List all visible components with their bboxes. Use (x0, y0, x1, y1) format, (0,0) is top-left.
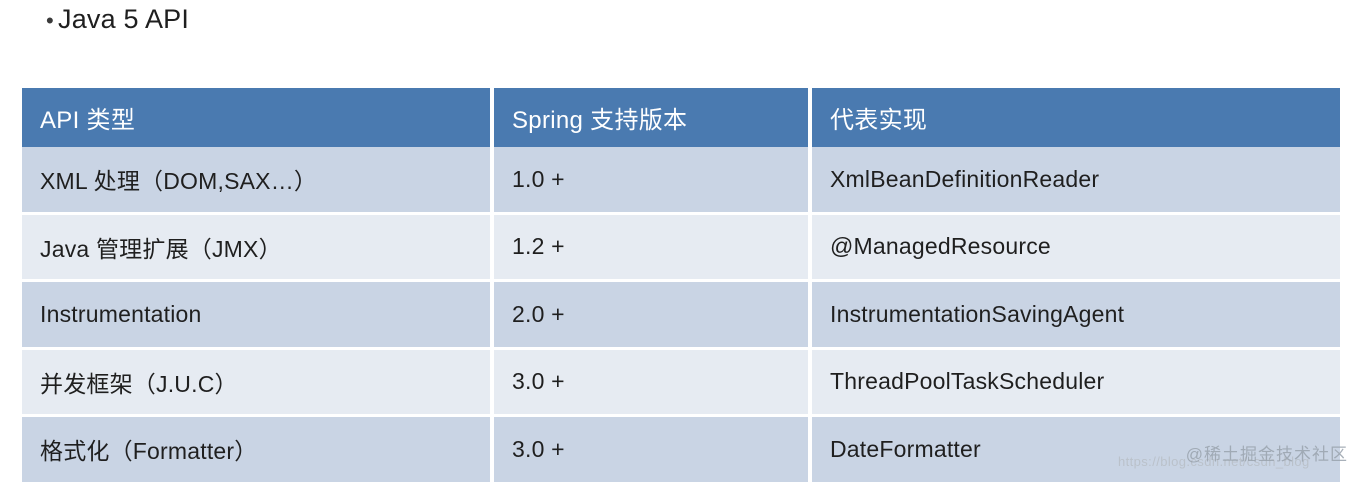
cell-api-type: Java 管理扩展（JMX） (22, 213, 492, 281)
column-header-spring-version: Spring 支持版本 (492, 88, 810, 147)
table-row: Instrumentation 2.0 + InstrumentationSav… (22, 281, 1340, 349)
api-table: API 类型 Spring 支持版本 代表实现 XML 处理（DOM,SAX…）… (22, 88, 1340, 482)
bullet-dot-icon: • (22, 4, 58, 38)
cell-implementation: InstrumentationSavingAgent (810, 281, 1340, 349)
table-body: XML 处理（DOM,SAX…） 1.0 + XmlBeanDefinition… (22, 147, 1340, 482)
page-title: Java 5 API (58, 2, 189, 36)
cell-spring-version: 3.0 + (492, 416, 810, 482)
cell-implementation: ThreadPoolTaskScheduler (810, 348, 1340, 416)
bullet-heading: • Java 5 API (22, 2, 189, 38)
cell-implementation: XmlBeanDefinitionReader (810, 147, 1340, 213)
cell-spring-version: 1.2 + (492, 213, 810, 281)
table-row: 并发框架（J.U.C） 3.0 + ThreadPoolTaskSchedule… (22, 348, 1340, 416)
table-header: API 类型 Spring 支持版本 代表实现 (22, 88, 1340, 147)
cell-spring-version: 1.0 + (492, 147, 810, 213)
table-header-row: API 类型 Spring 支持版本 代表实现 (22, 88, 1340, 147)
table-row: 格式化（Formatter） 3.0 + DateFormatter (22, 416, 1340, 482)
column-header-api-type: API 类型 (22, 88, 492, 147)
cell-spring-version: 2.0 + (492, 281, 810, 349)
cell-api-type: 格式化（Formatter） (22, 416, 492, 482)
cell-api-type: 并发框架（J.U.C） (22, 348, 492, 416)
table-row: XML 处理（DOM,SAX…） 1.0 + XmlBeanDefinition… (22, 147, 1340, 213)
column-header-implementation: 代表实现 (810, 88, 1340, 147)
table-row: Java 管理扩展（JMX） 1.2 + @ManagedResource (22, 213, 1340, 281)
slide-root: • Java 5 API API 类型 Spring 支持版本 代表实现 XML… (0, 0, 1362, 477)
cell-spring-version: 3.0 + (492, 348, 810, 416)
cell-api-type: XML 处理（DOM,SAX…） (22, 147, 492, 213)
cell-api-type: Instrumentation (22, 281, 492, 349)
api-table-wrapper: API 类型 Spring 支持版本 代表实现 XML 处理（DOM,SAX…）… (22, 88, 1340, 482)
watermark-brand: @稀土掘金技术社区 (1186, 440, 1348, 465)
cell-implementation: @ManagedResource (810, 213, 1340, 281)
